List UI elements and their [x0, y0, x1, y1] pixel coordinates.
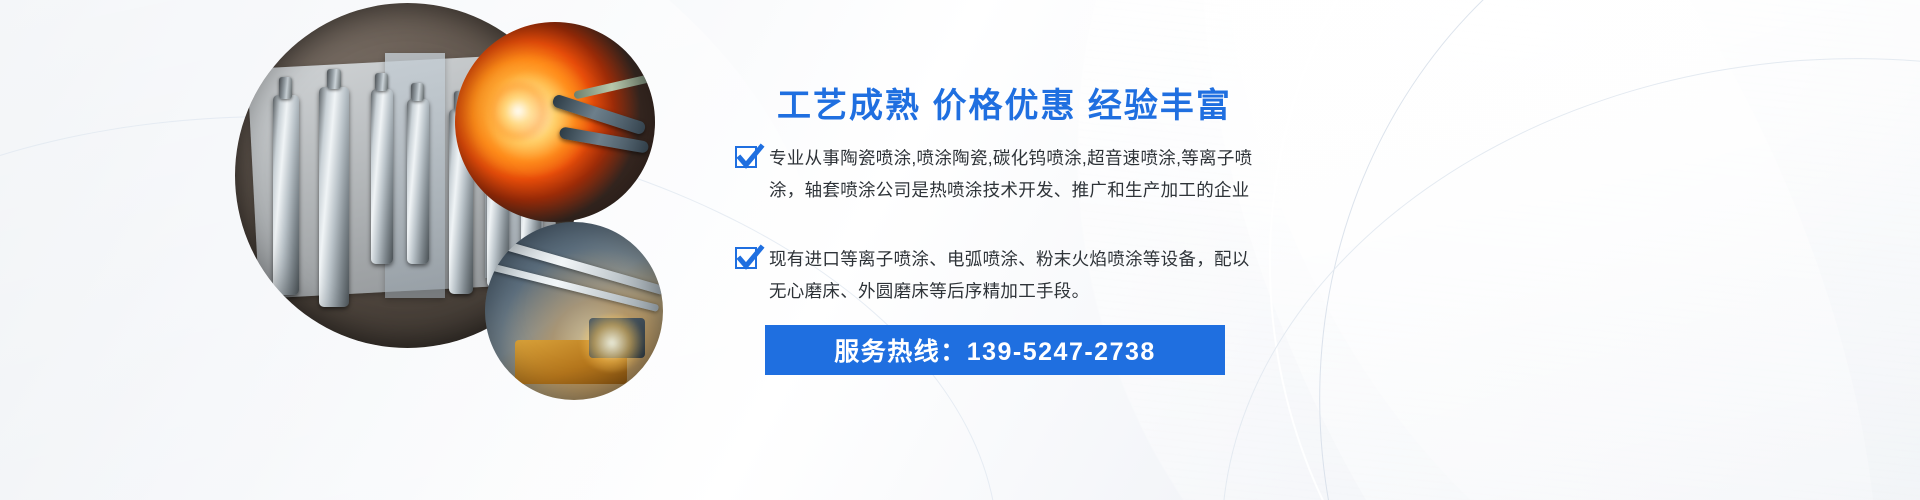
feature-bullet-1-text: 专业从事陶瓷喷涂,喷涂陶瓷,碳化钨喷涂,超音速喷涂,等离子喷涂，轴套喷涂公司是热… — [769, 142, 1255, 206]
text-content: 工艺成熟 价格优惠 经验丰富 专业从事陶瓷喷涂,喷涂陶瓷,碳化钨喷涂,超音速喷涂… — [735, 0, 1495, 500]
welding-grinding-photo — [485, 222, 663, 400]
flame-spray-photo — [455, 22, 655, 222]
promo-banner: 工艺成熟 价格优惠 经验丰富 专业从事陶瓷喷涂,喷涂陶瓷,碳化钨喷涂,超音速喷涂… — [0, 0, 1920, 500]
service-hotline-text: 服务热线：139-5247-2738 — [834, 332, 1156, 368]
headline: 工艺成熟 价格优惠 经验丰富 — [777, 78, 1232, 127]
feature-bullet-2: 现有进口等离子喷涂、电弧喷涂、粉末火焰喷涂等设备，配以无心磨床、外圆磨床等后序精… — [735, 243, 1255, 307]
feature-bullet-2-text: 现有进口等离子喷涂、电弧喷涂、粉末火焰喷涂等设备，配以无心磨床、外圆磨床等后序精… — [769, 243, 1255, 307]
photo-cluster — [230, 0, 700, 400]
service-hotline-bar[interactable]: 服务热线：139-5247-2738 — [765, 325, 1225, 375]
check-mark-icon — [735, 146, 757, 168]
check-mark-icon — [735, 247, 757, 269]
feature-bullet-1: 专业从事陶瓷喷涂,喷涂陶瓷,碳化钨喷涂,超音速喷涂,等离子喷涂，轴套喷涂公司是热… — [735, 142, 1255, 206]
